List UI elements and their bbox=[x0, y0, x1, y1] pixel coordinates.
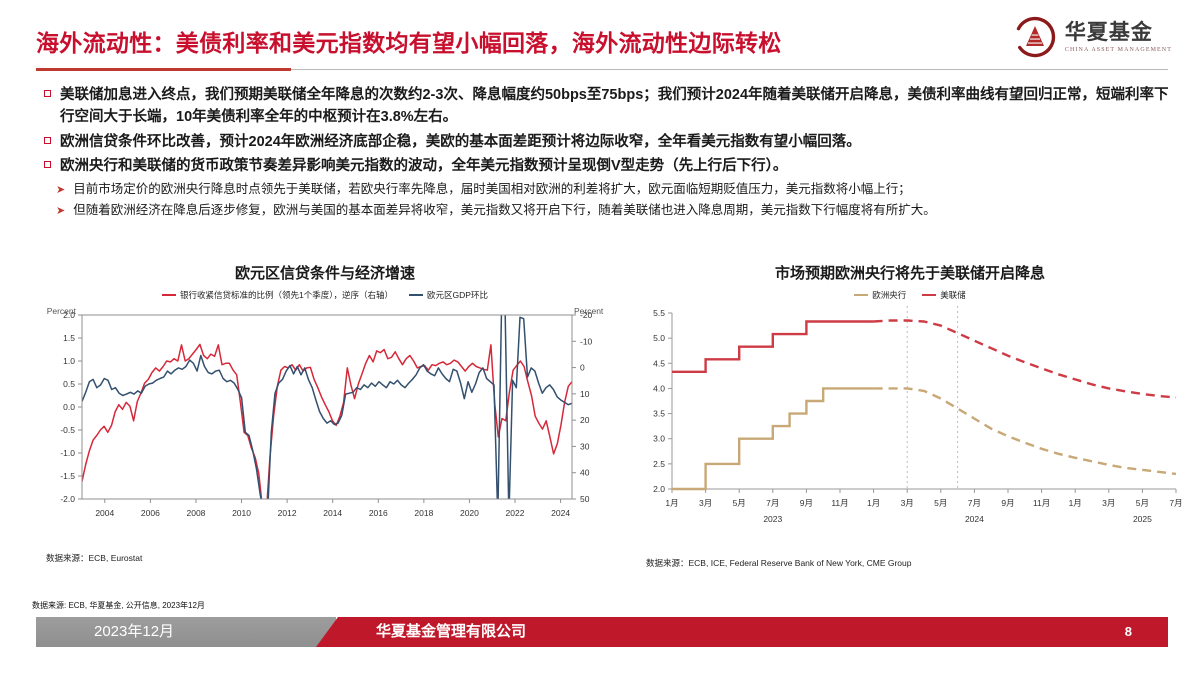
sub-bullet-text: 目前市场定价的欧洲央行降息时点领先于美联储，若欧央行率先降息，届时美国相对欧洲的… bbox=[73, 180, 911, 199]
svg-text:5.0: 5.0 bbox=[653, 333, 665, 343]
svg-text:0: 0 bbox=[580, 363, 585, 373]
legend-item: 银行收紧信贷标准的比例（领先1个季度），逆序（右轴） bbox=[162, 289, 393, 301]
svg-text:2020: 2020 bbox=[460, 508, 479, 518]
page-title: 海外流动性：美债利率和美元指数均有望小幅回落，海外流动性边际转松 bbox=[36, 22, 1170, 64]
svg-text:5月: 5月 bbox=[934, 498, 947, 508]
svg-text:2006: 2006 bbox=[141, 508, 160, 518]
legend-swatch bbox=[854, 294, 868, 296]
bullet-square-icon bbox=[44, 161, 51, 168]
svg-text:2023: 2023 bbox=[763, 514, 782, 524]
svg-text:7月: 7月 bbox=[1169, 498, 1182, 508]
svg-text:2018: 2018 bbox=[414, 508, 433, 518]
svg-text:1.5: 1.5 bbox=[63, 333, 75, 343]
svg-text:1月: 1月 bbox=[665, 498, 678, 508]
svg-text:4.5: 4.5 bbox=[653, 358, 665, 368]
svg-text:0.5: 0.5 bbox=[63, 379, 75, 389]
legend-label: 美联储 bbox=[940, 289, 966, 301]
bullet-item: 美联储加息进入终点，我们预期美联储全年降息的次数约2-3次、降息幅度约50bps… bbox=[40, 84, 1174, 129]
svg-text:3月: 3月 bbox=[901, 498, 914, 508]
chart-legend: 欧洲央行 美联储 bbox=[630, 289, 1190, 301]
pyramid-circle-logo-icon bbox=[1014, 16, 1056, 58]
sub-bullet-item: ➤ 但随着欧洲经济在降息后逐步修复，欧洲与美国的基本面差异将收窄，美元指数又将开… bbox=[40, 201, 1174, 220]
svg-text:-0.5: -0.5 bbox=[60, 425, 75, 435]
bullet-arrow-icon: ➤ bbox=[56, 185, 65, 196]
svg-text:3.0: 3.0 bbox=[653, 434, 665, 444]
slide-footnote: 数据来源: ECB, 华夏基金, 公开信息, 2023年12月 bbox=[32, 600, 205, 611]
svg-text:-2.0: -2.0 bbox=[60, 494, 75, 504]
svg-text:5月: 5月 bbox=[1136, 498, 1149, 508]
svg-text:3月: 3月 bbox=[699, 498, 712, 508]
svg-text:11月: 11月 bbox=[831, 498, 848, 508]
svg-text:2024: 2024 bbox=[551, 508, 570, 518]
svg-text:Percent: Percent bbox=[47, 306, 77, 316]
svg-text:-1.0: -1.0 bbox=[60, 448, 75, 458]
sub-bullet-text: 但随着欧洲经济在降息后逐步修复，欧洲与美国的基本面差异将收窄，美元指数又将开启下… bbox=[73, 201, 936, 220]
svg-text:2.0: 2.0 bbox=[653, 484, 665, 494]
chart-source: 数据来源：ECB, Eurostat bbox=[30, 552, 620, 564]
svg-text:2008: 2008 bbox=[186, 508, 205, 518]
footer-bar: 2023年12月 华夏基金管理有限公司 8 bbox=[36, 617, 1168, 647]
svg-text:Percent: Percent bbox=[574, 306, 604, 316]
svg-text:5.5: 5.5 bbox=[653, 308, 665, 318]
svg-text:7月: 7月 bbox=[968, 498, 981, 508]
svg-text:3.5: 3.5 bbox=[653, 409, 665, 419]
svg-text:9月: 9月 bbox=[1001, 498, 1014, 508]
svg-text:4.0: 4.0 bbox=[653, 383, 665, 393]
footer-left-block bbox=[36, 617, 336, 647]
svg-text:30: 30 bbox=[580, 441, 590, 451]
svg-text:2016: 2016 bbox=[369, 508, 388, 518]
slide-root: 海外流动性：美债利率和美元指数均有望小幅回落，海外流动性边际转松 华夏基金 CH… bbox=[0, 0, 1200, 675]
legend-swatch bbox=[922, 294, 936, 296]
footer-company: 华夏基金管理有限公司 bbox=[376, 617, 526, 647]
chart-plot-area: 2.01.51.00.50.0-0.5-1.0-1.5-2.0Percent-2… bbox=[30, 303, 620, 548]
svg-text:3月: 3月 bbox=[1102, 498, 1115, 508]
legend-item: 美联储 bbox=[922, 289, 966, 301]
page-number: 8 bbox=[1125, 617, 1132, 647]
legend-label: 欧洲央行 bbox=[872, 289, 906, 301]
chart-ecb-fed-rate-path: 市场预期欧洲央行将先于美联储开启降息 欧洲央行 美联储 5.55.04.54.0… bbox=[630, 262, 1190, 592]
svg-text:1.0: 1.0 bbox=[63, 356, 75, 366]
svg-text:1月: 1月 bbox=[1069, 498, 1082, 508]
svg-text:40: 40 bbox=[580, 468, 590, 478]
legend-swatch bbox=[409, 294, 423, 296]
svg-text:2004: 2004 bbox=[95, 508, 114, 518]
svg-text:20: 20 bbox=[580, 415, 590, 425]
svg-text:7月: 7月 bbox=[766, 498, 779, 508]
chart-legend: 银行收紧信贷标准的比例（领先1个季度），逆序（右轴） 欧元区GDP环比 bbox=[30, 289, 620, 301]
chart-title: 欧元区信贷条件与经济增速 bbox=[30, 262, 620, 283]
svg-text:11月: 11月 bbox=[1033, 498, 1050, 508]
bullet-item: 欧洲央行和美联储的货币政策节奏差异影响美元指数的波动，全年美元指数预计呈现倒V型… bbox=[40, 155, 1174, 177]
svg-text:-1.5: -1.5 bbox=[60, 471, 75, 481]
sub-bullet-item: ➤ 目前市场定价的欧洲央行降息时点领先于美联储，若欧央行率先降息，届时美国相对欧… bbox=[40, 180, 1174, 199]
chart-eurozone-credit-gdp: 欧元区信贷条件与经济增速 银行收紧信贷标准的比例（领先1个季度），逆序（右轴） … bbox=[30, 262, 620, 592]
svg-text:2022: 2022 bbox=[506, 508, 525, 518]
chart-source: 数据来源：ECB, ICE, Federal Reserve Bank of N… bbox=[630, 557, 1190, 569]
bullet-text: 欧洲央行和美联储的货币政策节奏差异影响美元指数的波动，全年美元指数预计呈现倒V型… bbox=[60, 155, 787, 177]
logo-name-en: CHINA ASSET MANAGEMENT bbox=[1065, 47, 1172, 53]
chart-plot-area: 5.55.04.54.03.53.02.52.01月3月5月7月9月11月1月3… bbox=[630, 303, 1190, 553]
legend-item: 欧洲央行 bbox=[854, 289, 906, 301]
bullet-square-icon bbox=[44, 137, 51, 144]
bullet-text: 欧洲信贷条件环比改善，预计2024年欧洲经济底部企稳，美欧的基本面差距预计将边际… bbox=[60, 131, 861, 153]
bullet-square-icon bbox=[44, 90, 51, 97]
legend-label: 银行收紧信贷标准的比例（领先1个季度），逆序（右轴） bbox=[180, 289, 393, 301]
footer-date: 2023年12月 bbox=[94, 617, 174, 647]
svg-text:2.5: 2.5 bbox=[653, 459, 665, 469]
svg-text:9月: 9月 bbox=[800, 498, 813, 508]
svg-text:2024: 2024 bbox=[965, 514, 984, 524]
chart-title: 市场预期欧洲央行将先于美联储开启降息 bbox=[630, 262, 1190, 283]
svg-text:0.0: 0.0 bbox=[63, 402, 75, 412]
bullet-text: 美联储加息进入终点，我们预期美联储全年降息的次数约2-3次、降息幅度约50bps… bbox=[60, 84, 1174, 129]
svg-text:10: 10 bbox=[580, 389, 590, 399]
bullet-item: 欧洲信贷条件环比改善，预计2024年欧洲经济底部企稳，美欧的基本面差距预计将边际… bbox=[40, 131, 1174, 153]
header-divider bbox=[36, 68, 1168, 71]
svg-text:-10: -10 bbox=[580, 336, 593, 346]
header: 海外流动性：美债利率和美元指数均有望小幅回落，海外流动性边际转松 bbox=[36, 22, 1170, 64]
svg-text:2025: 2025 bbox=[1133, 514, 1152, 524]
legend-item: 欧元区GDP环比 bbox=[409, 289, 488, 301]
svg-text:2012: 2012 bbox=[278, 508, 297, 518]
svg-text:2010: 2010 bbox=[232, 508, 251, 518]
svg-text:50: 50 bbox=[580, 494, 590, 504]
bullet-arrow-icon: ➤ bbox=[56, 206, 65, 217]
svg-text:5月: 5月 bbox=[733, 498, 746, 508]
logo-name-cn: 华夏基金 bbox=[1065, 22, 1172, 43]
legend-label: 欧元区GDP环比 bbox=[427, 289, 488, 301]
svg-text:1月: 1月 bbox=[867, 498, 880, 508]
bullet-list: 美联储加息进入终点，我们预期美联储全年降息的次数约2-3次、降息幅度约50bps… bbox=[40, 84, 1174, 221]
svg-text:2014: 2014 bbox=[323, 508, 342, 518]
legend-swatch bbox=[162, 294, 176, 296]
brand-logo: 华夏基金 CHINA ASSET MANAGEMENT bbox=[1014, 16, 1172, 58]
